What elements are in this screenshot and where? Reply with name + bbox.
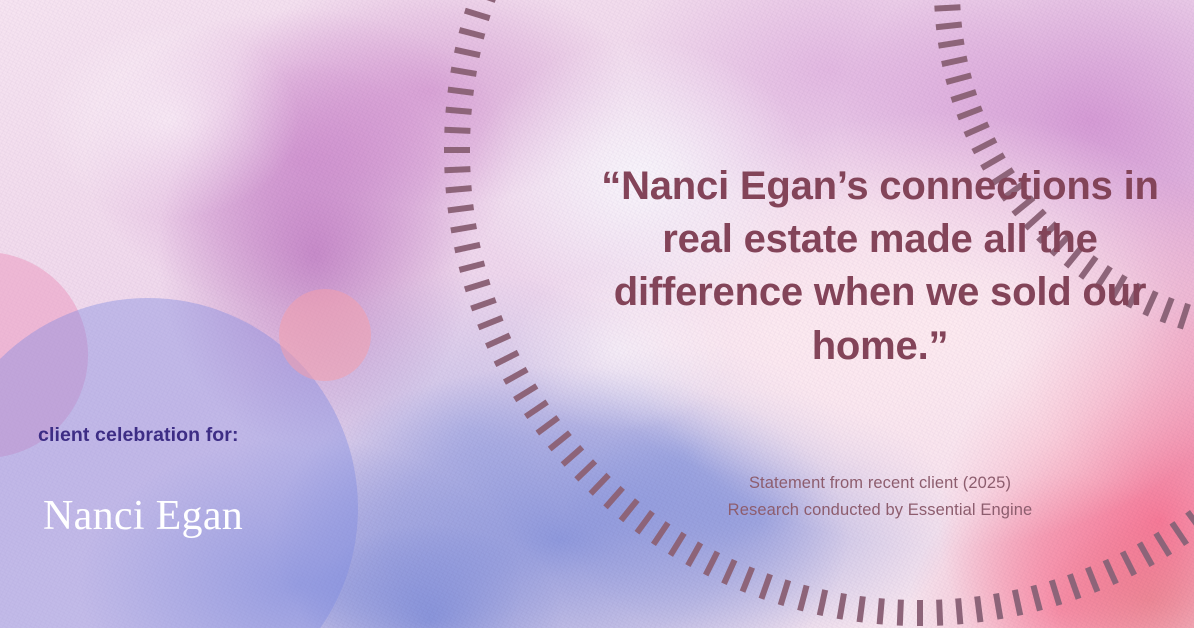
agent-name: Nanci Egan [43, 495, 368, 537]
attribution-research-line: Research conducted by Essential Engine [596, 497, 1164, 524]
celebration-card: client celebration for: Nanci Egan “Nanc… [0, 0, 1194, 628]
eyebrow-label: client celebration for: [38, 424, 368, 447]
client-identity-block: client celebration for: Nanci Egan [38, 424, 368, 537]
attribution-block: Statement from recent client (2025) Rese… [596, 470, 1164, 524]
attribution-source-line: Statement from recent client (2025) [596, 470, 1164, 497]
testimonial-block: “Nanci Egan’s connections in real estate… [596, 160, 1164, 373]
testimonial-quote: “Nanci Egan’s connections in real estate… [596, 160, 1164, 373]
decorative-circle-pink-small [279, 289, 371, 381]
